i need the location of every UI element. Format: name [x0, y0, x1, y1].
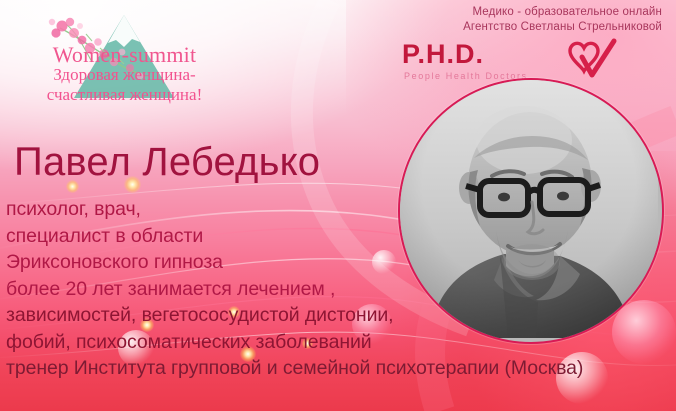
bio-line: психолог, врач,: [6, 196, 676, 223]
women-summit-logo: Women-summit Здоровая женщина- счастлива…: [22, 6, 227, 106]
bio-line: тренер Института групповой и семейной пс…: [6, 355, 676, 382]
bio-line: Эриксоновского гипноза: [6, 249, 676, 276]
bio-line: фобий, психосоматических заболеваний: [6, 329, 676, 356]
heart-checkmark-icon: [562, 37, 618, 85]
logo-subtitle-line1: Здоровая женщина-: [22, 65, 227, 85]
speaker-bio: психолог, врач, специалист в области Эри…: [6, 196, 676, 382]
speaker-name: Павел Лебедько: [14, 140, 320, 185]
logo-subtitle-line2: счастливая женщина!: [22, 85, 227, 105]
bio-line: специалист в области: [6, 223, 676, 250]
phd-brand-text: P.H.D.: [402, 39, 484, 70]
agency-line-1: Медико - образовательное онлайн: [400, 5, 662, 20]
agency-line-2: Агентство Светланы Стрельниковой: [400, 20, 662, 35]
bio-line: зависимостей, вегетососудистой дистонии,: [6, 302, 676, 329]
phd-agency-logo: Медико - образовательное онлайн Агентств…: [400, 5, 662, 87]
promo-banner: Women-summit Здоровая женщина- счастлива…: [0, 0, 676, 411]
bio-line: более 20 лет занимается лечением ,: [6, 276, 676, 303]
